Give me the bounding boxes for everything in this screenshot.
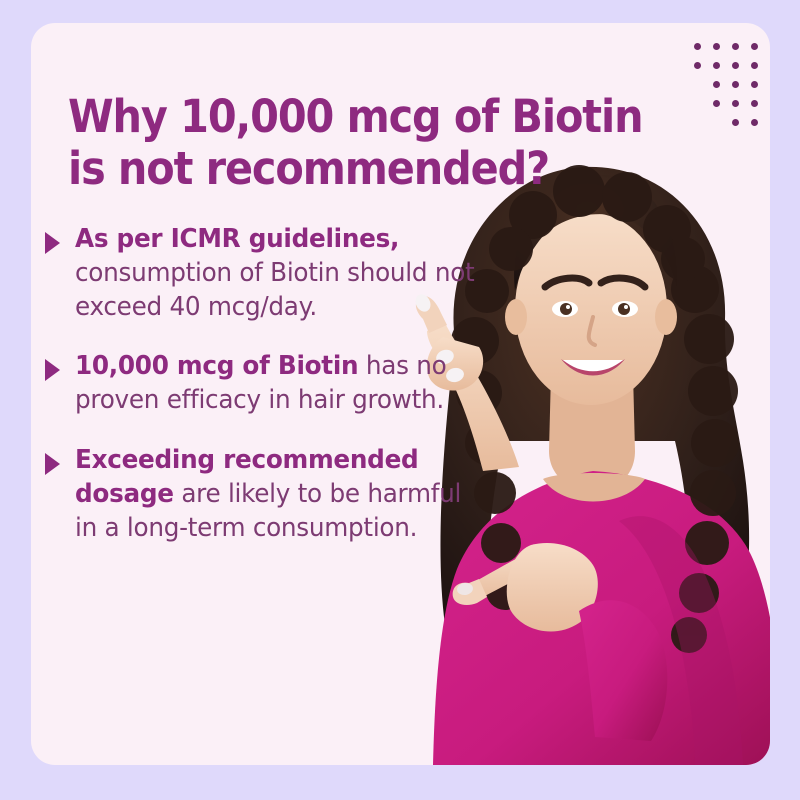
dot-grid-row (672, 94, 758, 113)
list-item-text: 10,000 mcg of Biotin has no proven effic… (75, 350, 487, 418)
list-item: 10,000 mcg of Biotin has no proven effic… (39, 350, 509, 418)
triangle-right-icon (45, 232, 60, 254)
list-item-rest: consumption of Biotin should not exceed … (75, 258, 474, 322)
triangle-right-icon (45, 359, 60, 381)
dot (713, 81, 720, 88)
list-item: Exceeding recommended dosage are likely … (39, 444, 509, 545)
dot (751, 43, 758, 50)
dot (732, 119, 739, 126)
list-item-text: As per ICMR guidelines, consumption of B… (75, 223, 487, 324)
dot-grid-row (672, 56, 758, 75)
dot-grid-row (672, 113, 758, 132)
dot (751, 81, 758, 88)
dot (713, 43, 720, 50)
dot (732, 81, 739, 88)
dot-grid-decoration (672, 37, 758, 133)
dot (694, 43, 701, 50)
dot (694, 62, 701, 69)
triangle-right-icon (45, 453, 60, 475)
dot (751, 100, 758, 107)
dot-grid-row (672, 75, 758, 94)
list-item-text: Exceeding recommended dosage are likely … (75, 444, 487, 545)
dot (713, 100, 720, 107)
dot (732, 43, 739, 50)
list-item-lead: 10,000 mcg of Biotin (75, 351, 358, 381)
dot (713, 62, 720, 69)
dot (732, 100, 739, 107)
dot-grid-row (672, 37, 758, 56)
list-item-lead: As per ICMR guidelines, (75, 224, 399, 254)
bullet-list: As per ICMR guidelines, consumption of B… (39, 223, 509, 571)
infographic-card: Why 10,000 mcg of Biotin is not recommen… (31, 23, 770, 765)
list-item: As per ICMR guidelines, consumption of B… (39, 223, 509, 324)
page-title: Why 10,000 mcg of Biotin is not recommen… (68, 91, 648, 195)
dot (751, 62, 758, 69)
dot (732, 62, 739, 69)
dot (751, 119, 758, 126)
infographic-canvas: Why 10,000 mcg of Biotin is not recommen… (0, 0, 800, 800)
